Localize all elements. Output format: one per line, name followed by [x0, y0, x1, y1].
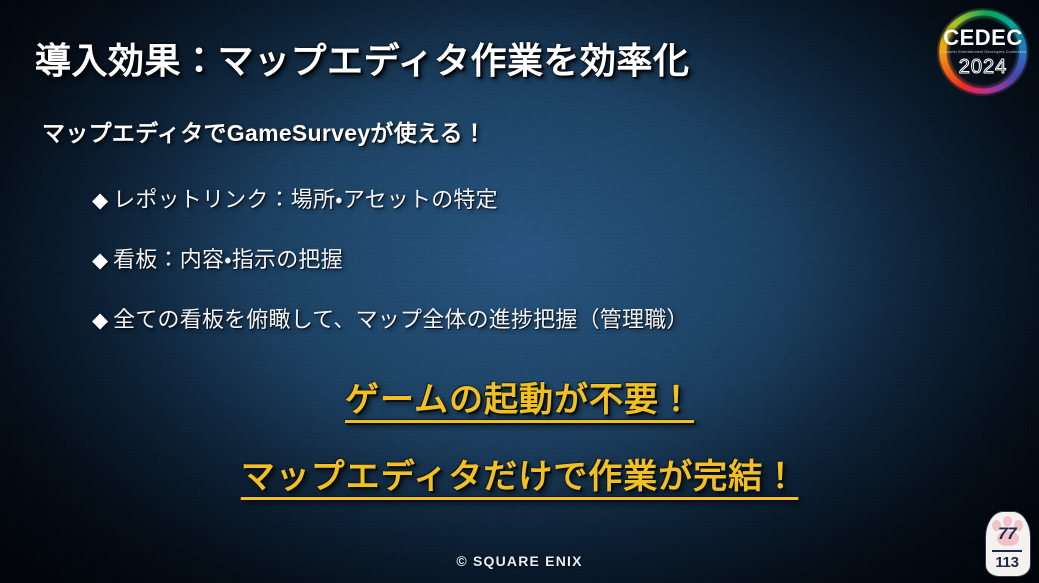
cedec-wordmark: CEDEC	[943, 27, 1023, 49]
conclusion-line-1: ゲームの起動が不要！	[0, 372, 1039, 421]
conclusion-block: ゲームの起動が不要！ マップエディタだけで作業が完結！	[0, 372, 1039, 526]
copyright-notice: © SQUARE ENIX	[0, 553, 1039, 569]
bullet-text: 看板：内容・指示の把握	[113, 242, 343, 274]
slide-subtitle: マップエディタでGameSurveyが使える！	[42, 114, 486, 148]
page-number-divider	[992, 550, 1022, 552]
diamond-bullet-icon: ◆	[92, 188, 108, 213]
page-number-badge: 77 113	[983, 509, 1031, 579]
bullet-list: ◆ レポットリンク：場所・アセットの特定 ◆ 看板：内容・指示の把握 ◆ 全ての…	[92, 182, 972, 362]
conclusion-line-2: マップエディタだけで作業が完結！	[0, 449, 1039, 498]
list-item: ◆ 全ての看板を俯瞰して、マップ全体の進捗把握（管理職）	[92, 302, 972, 334]
presentation-slide: 導入効果：マップエディタ作業を効率化 マップエディタでGameSurveyが使え…	[0, 0, 1039, 583]
bullet-text: レポットリンク：場所・アセットの特定	[113, 182, 498, 214]
cedec-year: 2024	[959, 57, 1008, 77]
bullet-text: 全ての看板を俯瞰して、マップ全体の進捗把握（管理職）	[113, 302, 688, 334]
diamond-bullet-icon: ◆	[92, 308, 108, 333]
diamond-bullet-icon: ◆	[92, 248, 108, 273]
slide-title: 導入効果：マップエディタ作業を効率化	[35, 32, 689, 84]
list-item: ◆ レポットリンク：場所・アセットの特定	[92, 182, 972, 214]
current-page-number: 77	[983, 524, 1031, 544]
cedec-logo: CEDEC Computer Entertainment Developers …	[935, 6, 1031, 98]
total-page-number: 113	[983, 554, 1031, 571]
list-item: ◆ 看板：内容・指示の把握	[92, 242, 972, 274]
cedec-tagline: Computer Entertainment Developers Confer…	[940, 51, 1026, 55]
